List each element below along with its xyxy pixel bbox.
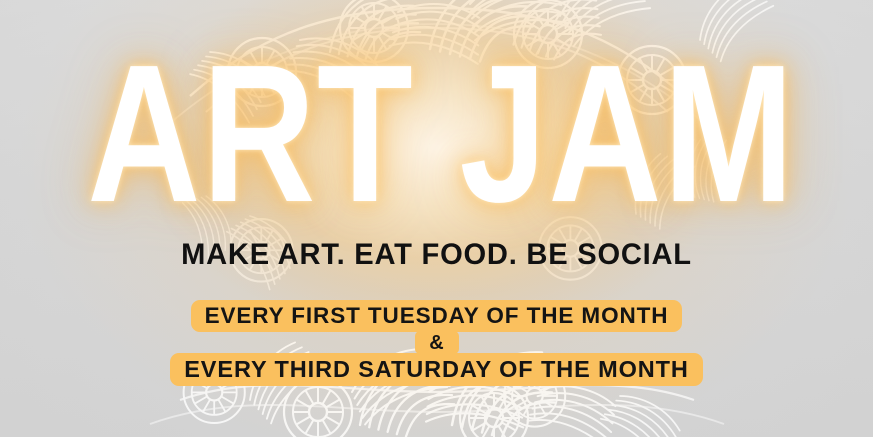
schedule-banner-first-tuesday: EVERY FIRST TUESDAY OF THE MONTH xyxy=(191,300,683,332)
poster-subtitle: MAKE ART. EAT FOOD. BE SOCIAL xyxy=(13,240,860,270)
schedule-banner-group: EVERY FIRST TUESDAY OF THE MONTH & EVERY… xyxy=(0,300,873,386)
art-jam-flyer: ART JAM MAKE ART. EAT FOOD. BE SOCIAL EV… xyxy=(0,0,873,437)
page-title: ART JAM xyxy=(87,44,785,224)
poster-content: ART JAM MAKE ART. EAT FOOD. BE SOCIAL EV… xyxy=(0,0,873,437)
schedule-conjunction-badge: & xyxy=(415,331,459,354)
schedule-banner-third-saturday: EVERY THIRD SATURDAY OF THE MONTH xyxy=(170,353,703,386)
